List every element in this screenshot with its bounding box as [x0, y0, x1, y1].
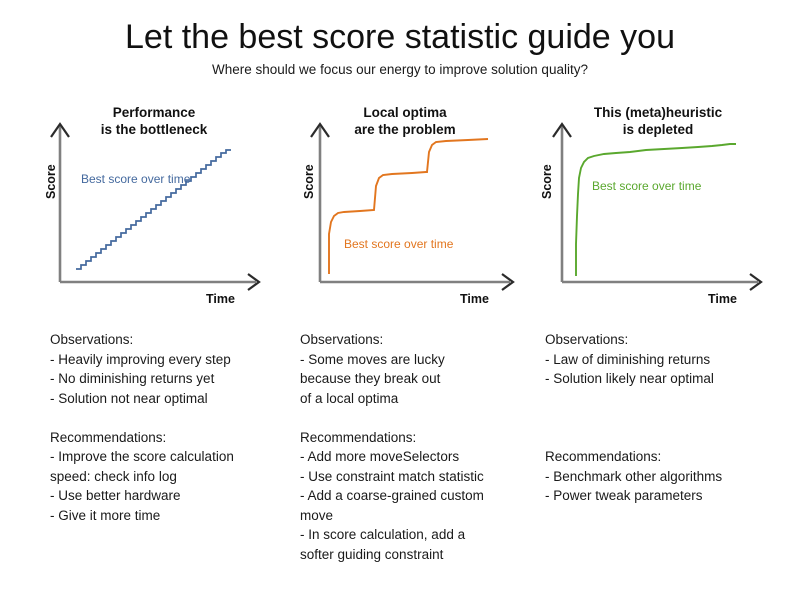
observation-item: - Law of diminishing returns	[545, 350, 795, 370]
recommendation-item: softer guiding constraint	[300, 545, 530, 565]
recommendations-block: Recommendations: - Improve the score cal…	[50, 428, 300, 526]
series-label: Best score over time	[81, 172, 190, 186]
recommendation-item: - In score calculation, add a	[300, 525, 530, 545]
observation-item: - Heavily improving every step	[50, 350, 300, 370]
recommendation-item: speed: check info log	[50, 467, 300, 487]
recommendations-heading: Recommendations:	[50, 428, 300, 448]
series-line-orange	[329, 139, 488, 274]
x-axis-label: Time	[206, 292, 235, 306]
recommendation-item: - Add a coarse-grained custom	[300, 486, 530, 506]
page-subtitle: Where should we focus our energy to impr…	[0, 62, 800, 77]
recommendation-item: move	[300, 506, 530, 526]
slide: Let the best score statistic guide you W…	[0, 0, 800, 600]
plot-area	[530, 104, 790, 319]
recommendation-item: - Power tweak parameters	[545, 486, 795, 506]
observation-item: of a local optima	[300, 389, 530, 409]
notes-column-performance: Observations: - Heavily improving every …	[50, 330, 300, 525]
recommendation-item: - Improve the score calculation	[50, 447, 300, 467]
observations-block: Observations: - Law of diminishing retur…	[545, 330, 795, 389]
series-label: Best score over time	[344, 237, 453, 251]
recommendations-heading: Recommendations:	[545, 447, 795, 467]
recommendations-heading: Recommendations:	[300, 428, 530, 448]
y-axis-label: Score	[302, 164, 316, 199]
recommendation-item: - Give it more time	[50, 506, 300, 526]
recommendation-item: - Use better hardware	[50, 486, 300, 506]
chart-panel-performance: Performance is the bottleneck Score Time…	[28, 104, 288, 319]
observations-heading: Observations:	[50, 330, 300, 350]
x-axis-label: Time	[708, 292, 737, 306]
x-axis-label: Time	[460, 292, 489, 306]
series-line-blue	[76, 150, 231, 269]
recommendation-item: - Add more moveSelectors	[300, 447, 530, 467]
recommendation-item: - Benchmark other algorithms	[545, 467, 795, 487]
observations-heading: Observations:	[300, 330, 530, 350]
notes-column-depleted: Observations: - Law of diminishing retur…	[545, 330, 795, 506]
plot-area	[288, 104, 548, 319]
observation-item: - Solution not near optimal	[50, 389, 300, 409]
observation-item: - No diminishing returns yet	[50, 369, 300, 389]
observation-item: - Some moves are lucky	[300, 350, 530, 370]
recommendation-item: - Use constraint match statistic	[300, 467, 530, 487]
observation-item: - Solution likely near optimal	[545, 369, 795, 389]
observations-block: Observations: - Some moves are lucky bec…	[300, 330, 530, 408]
chart-panels: Performance is the bottleneck Score Time…	[0, 104, 800, 319]
chart-panel-local-optima: Local optima are the problem Score Time …	[288, 104, 548, 319]
observations-heading: Observations:	[545, 330, 795, 350]
recommendations-block: Recommendations: - Add more moveSelector…	[300, 428, 530, 565]
chart-panel-depleted: This (meta)heuristic is depleted Score T…	[530, 104, 790, 319]
series-label: Best score over time	[592, 179, 701, 193]
observations-block: Observations: - Heavily improving every …	[50, 330, 300, 408]
y-axis-label: Score	[540, 164, 554, 199]
observation-item: because they break out	[300, 369, 530, 389]
page-title: Let the best score statistic guide you	[0, 18, 800, 57]
plot-area	[28, 104, 288, 319]
y-axis-label: Score	[44, 164, 58, 199]
notes-column-local-optima: Observations: - Some moves are lucky bec…	[300, 330, 530, 564]
notes-columns: Observations: - Heavily improving every …	[0, 330, 800, 590]
series-line-green	[576, 144, 736, 276]
recommendations-block: Recommendations: - Benchmark other algor…	[545, 447, 795, 506]
